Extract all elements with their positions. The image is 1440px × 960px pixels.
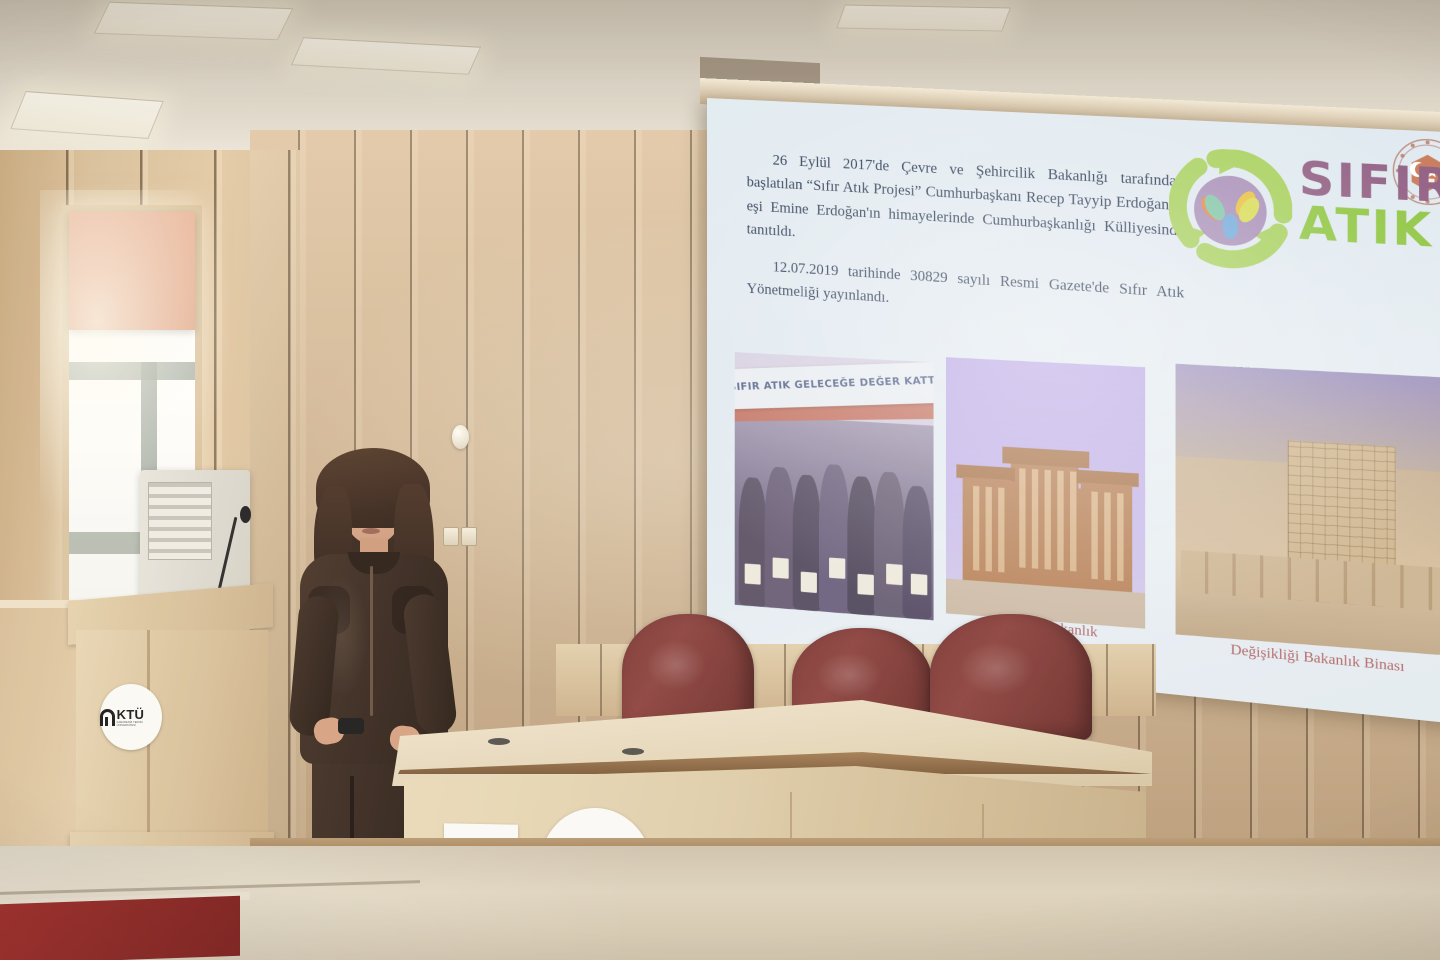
window-outside-structure — [69, 362, 195, 380]
red-carpet — [0, 896, 240, 960]
podium-ktu-logo: KTÜ KARADENİZ TEKNİK ÜNİVERSİTESİ — [100, 684, 162, 750]
light-switch[interactable] — [461, 527, 477, 546]
cable-grommet — [622, 748, 644, 755]
cable-grommet — [488, 738, 510, 745]
mouth — [362, 528, 380, 534]
ktu-subtitle: KARADENİZ TEKNİK ÜNİVERSİTESİ — [117, 721, 162, 727]
conference-hall-photo: 26 Eylül 2017'de Çevre ve Şehircilik Bak… — [0, 0, 1440, 960]
ktu-wordmark: KTÜ — [117, 708, 162, 721]
presentation-clicker[interactable] — [338, 718, 364, 734]
jacket-zipper — [370, 566, 373, 716]
ac-vent-grill — [148, 482, 212, 560]
screen-glow — [707, 98, 1440, 728]
microphone-icon — [240, 506, 251, 523]
ktu-arch-icon — [100, 709, 115, 726]
window-roller-blind[interactable] — [69, 212, 195, 330]
projection-screen: 26 Eylül 2017'de Çevre ve Şehircilik Bak… — [707, 98, 1440, 728]
